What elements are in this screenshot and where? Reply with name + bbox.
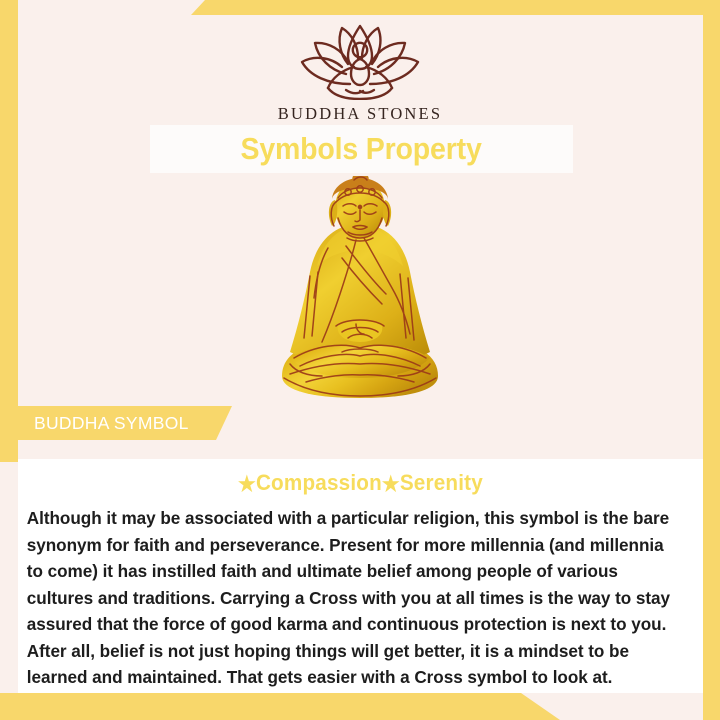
section-label-banner: BUDDHA SYMBOL xyxy=(0,406,232,440)
page-title: Symbols Property xyxy=(241,131,482,167)
content-paragraph: Although it may be associated with a par… xyxy=(18,505,686,691)
lotus-meditation-icon xyxy=(284,22,436,100)
poster-canvas: BUDDHA STONES Symbols Property xyxy=(0,0,720,720)
brand-name: BUDDHA STONES xyxy=(0,104,720,124)
golden-buddha-statue-icon xyxy=(260,176,460,404)
decor-bottom-band xyxy=(0,693,560,720)
subtitle-word-serenity: Serenity xyxy=(400,470,483,495)
title-banner: Symbols Property xyxy=(150,125,573,173)
star-icon-2: ★ xyxy=(382,473,400,496)
content-subtitle: ★Compassion★Serenity xyxy=(39,470,683,497)
brand-logo: BUDDHA STONES xyxy=(0,22,720,124)
content-panel: ★Compassion★Serenity Although it may be … xyxy=(18,459,703,693)
section-label-text: BUDDHA SYMBOL xyxy=(0,413,189,434)
buddha-figure xyxy=(260,176,460,404)
subtitle-word-compassion: Compassion xyxy=(256,470,382,495)
decor-top-band xyxy=(191,0,720,15)
star-icon-1: ★ xyxy=(238,473,256,496)
